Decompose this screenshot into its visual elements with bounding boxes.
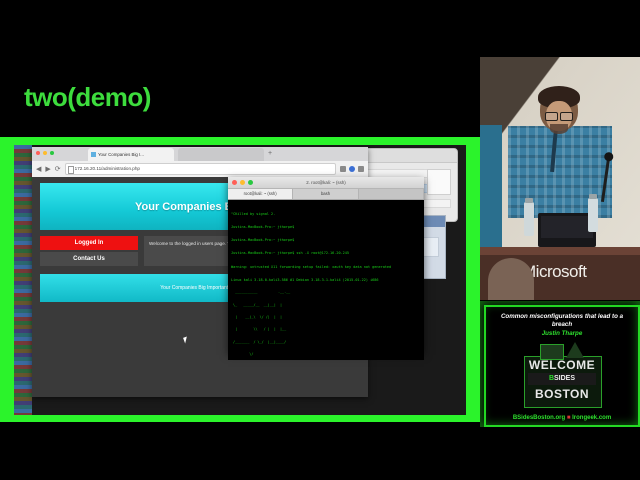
logo-skyline-icon — [540, 342, 584, 358]
terminal-line: Justins-MacBook-Pro:~ jthorpe$ — [231, 225, 421, 229]
logo-sides-text: BSIDES — [528, 373, 596, 385]
terminal-tab-strip[interactable]: root@kali: ~ (ssh) bash — [228, 189, 424, 200]
terminal-window-title: 2. root@kali: ~ (ssh) — [228, 177, 424, 188]
nav-logged-in-button[interactable]: Logged In — [40, 236, 138, 250]
bsides-boston-logo: WELCOME BSIDES BOSTON — [516, 340, 608, 412]
site-nav[interactable]: Logged In Contact Us — [40, 236, 138, 266]
maximize-icon[interactable] — [50, 151, 54, 155]
mouse-cursor-icon — [183, 336, 189, 343]
browser-tab-inactive[interactable] — [178, 148, 264, 161]
bsides-site-link[interactable]: BSidesBoston.org — [513, 415, 565, 421]
menu-icon[interactable] — [358, 166, 364, 172]
terminal-line: Warning: untrusted X11 forwarding setup … — [231, 265, 421, 269]
water-bottle — [588, 198, 598, 232]
screen-capture: two(demo) — [0, 0, 640, 480]
speaker-beard — [550, 124, 568, 134]
terminal-output[interactable]: ^CKilled by signal 2. Justins-MacBook-Pr… — [228, 200, 424, 360]
background-window-thumbnail — [427, 169, 451, 195]
speaker-video-feed: Microsoft — [480, 0, 640, 300]
video-letterbox — [480, 0, 640, 57]
slide-title: two(demo) — [24, 82, 151, 113]
speaker-name: Justin Tharpe — [486, 330, 638, 337]
room-side-panel — [480, 125, 502, 247]
ascii-art-line: \_ _____/__ __|__| | — [231, 304, 421, 308]
ascii-art-line: ___________ .__.__ — [231, 291, 421, 295]
triangle-icon — [566, 342, 584, 358]
new-tab-button[interactable]: + — [268, 151, 272, 157]
talk-info-overlay: Common misconfigurations that lead to a … — [484, 305, 640, 427]
separator-icon: ■ — [567, 415, 571, 421]
extension-icon[interactable] — [340, 166, 346, 172]
forward-icon[interactable]: ▶ — [45, 166, 50, 173]
terminal-line: ^CKilled by signal 2. — [231, 212, 421, 216]
glasses-icon — [545, 112, 573, 119]
maximize-icon[interactable] — [248, 180, 253, 185]
terminal-titlebar[interactable]: 2. root@kali: ~ (ssh) — [228, 177, 424, 189]
terminal-tab-bash[interactable]: bash — [293, 189, 358, 199]
reload-icon[interactable]: ⟳ — [55, 166, 61, 173]
terminal-window[interactable]: 2. root@kali: ~ (ssh) root@kali: ~ (ssh)… — [228, 177, 424, 352]
minimize-icon[interactable] — [240, 180, 245, 185]
profile-avatar-icon[interactable] — [349, 166, 355, 172]
logo-welcome-text: WELCOME — [516, 358, 608, 372]
window-traffic-lights[interactable] — [232, 180, 253, 185]
logo-sides-main: SIDES — [554, 375, 575, 382]
slide-area: two(demo) — [0, 0, 480, 480]
close-icon[interactable] — [36, 151, 40, 155]
talk-title: Common misconfigurations that lead to a … — [492, 313, 632, 329]
terminal-line: Linux kali 3.18.0-kali3-586 #1 Debian 3.… — [231, 278, 421, 282]
podium-edge — [480, 247, 640, 255]
ascii-art-line: /_______ / \_/ |__|____/ — [231, 341, 421, 345]
back-icon[interactable]: ◀ — [36, 166, 41, 173]
water-bottle — [524, 202, 534, 236]
minimize-icon[interactable] — [43, 151, 47, 155]
window-traffic-lights[interactable] — [36, 151, 54, 155]
overlay-footer: BSidesBoston.org ■ Irongeek.com — [486, 415, 638, 421]
macos-dock[interactable] — [14, 145, 32, 415]
ascii-art-line: | __)_\ \/ /| | | — [231, 316, 421, 320]
nav-contact-us-button[interactable]: Contact Us — [40, 252, 138, 266]
terminal-line: Justins-MacBook-Pro:~ jthorpe$ — [231, 238, 421, 242]
address-bar-input[interactable]: 172.16.20.11/administration.php — [65, 163, 336, 175]
browser-toolbar[interactable]: ◀ ▶ ⟳ 172.16.20.11/administration.php — [32, 161, 368, 178]
mac-desktop-capture: Your Companies Big I... + ◀ ▶ ⟳ 172.16.2… — [14, 145, 466, 415]
favicon-icon — [91, 152, 96, 157]
browser-tab-label: Your Companies Big I... — [98, 152, 144, 157]
browser-tab-strip[interactable]: Your Companies Big I... + — [32, 147, 368, 161]
toolbar-extension-icons[interactable] — [340, 166, 364, 172]
logo-boston-text: BOSTON — [516, 387, 608, 401]
ascii-art-line: | \\ / | | |__ — [231, 328, 421, 332]
ascii-art-line: \/ — [231, 353, 421, 357]
terminal-tab-ssh[interactable]: root@kali: ~ (ssh) — [228, 189, 293, 199]
irongeek-site-link[interactable]: Irongeek.com — [572, 415, 611, 421]
terminal-line: Justins-MacBook-Pro:~ jthorpe$ ssh -X ro… — [231, 251, 421, 255]
terminal-tab-empty[interactable] — [359, 189, 424, 199]
browser-tab-active[interactable]: Your Companies Big I... — [88, 148, 174, 161]
close-icon[interactable] — [232, 180, 237, 185]
audience-head — [488, 258, 534, 300]
